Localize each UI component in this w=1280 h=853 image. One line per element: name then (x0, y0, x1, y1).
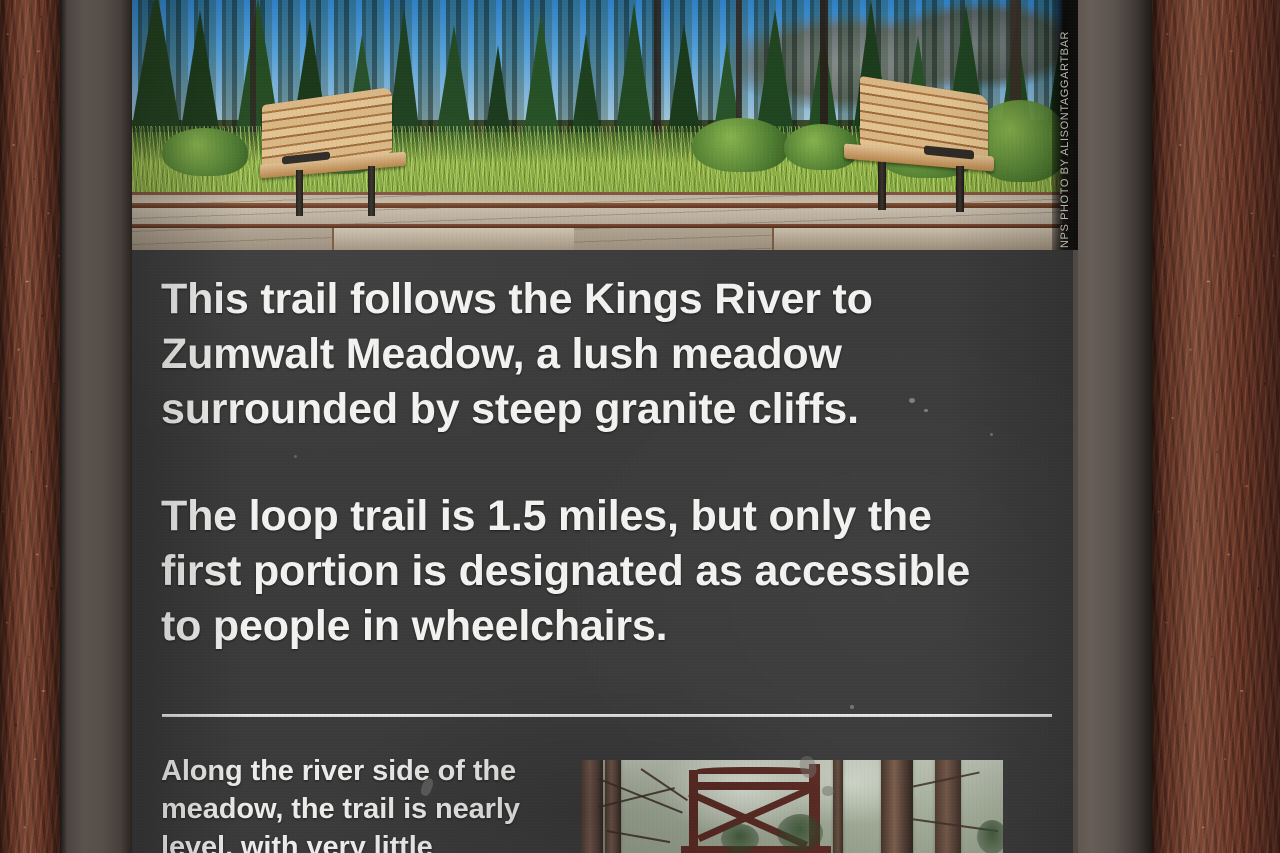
sign-panel: NPS PHOTO BY ALISONTAGGARTBAR This trail… (132, 0, 1078, 853)
dust-speck (850, 705, 854, 709)
pine-trunk (935, 760, 961, 853)
photo-credit-text: NPS PHOTO BY ALISONTAGGARTBAR (1059, 31, 1071, 248)
photo-credit-strip: NPS PHOTO BY ALISONTAGGARTBAR (1052, 0, 1078, 250)
background-conifer (721, 824, 759, 853)
sign-frame-rail-right (1073, 0, 1155, 853)
rail-face (1073, 0, 1155, 853)
sign-body-copy: This trail follows the Kings River to Zu… (161, 272, 1051, 654)
horizontal-divider (162, 714, 1052, 717)
inset-photo-bridge (581, 760, 1003, 853)
rusted-post-right (1152, 0, 1280, 853)
paragraph-river-side: Along the river side of the meadow, the … (161, 752, 551, 853)
post-shading (1152, 0, 1280, 853)
interpretive-sign-scene: NPS PHOTO BY ALISONTAGGARTBAR This trail… (0, 0, 1280, 853)
post-shading (0, 0, 62, 853)
hero-photo: NPS PHOTO BY ALISONTAGGARTBAR (132, 0, 1078, 250)
paragraph-trail-description: This trail follows the Kings River to Zu… (161, 272, 1051, 437)
bench-leg (956, 166, 964, 212)
photo-deck-step (332, 228, 574, 250)
bench-leg (368, 166, 375, 216)
background-conifer (977, 820, 1003, 853)
lower-text-column: Along the river side of the meadow, the … (161, 752, 551, 853)
bench-leg (296, 170, 303, 216)
photo-shrub (162, 128, 248, 176)
bridge-arch (697, 767, 811, 774)
pine-trunk (833, 760, 843, 853)
rusted-post-left (0, 0, 62, 853)
pine-trunk (881, 760, 913, 853)
photo-shrub (692, 118, 788, 172)
background-conifer (777, 814, 823, 852)
paragraph-loop-accessibility: The loop trail is 1.5 miles, but only th… (161, 489, 1051, 654)
bench-right (850, 86, 998, 214)
photo-deck-step (772, 228, 1064, 250)
bench-leg (878, 162, 886, 210)
rail-face (60, 0, 134, 853)
bench-left (260, 96, 400, 216)
sign-frame-rail-left (60, 0, 134, 853)
pine-trunk (605, 760, 621, 853)
